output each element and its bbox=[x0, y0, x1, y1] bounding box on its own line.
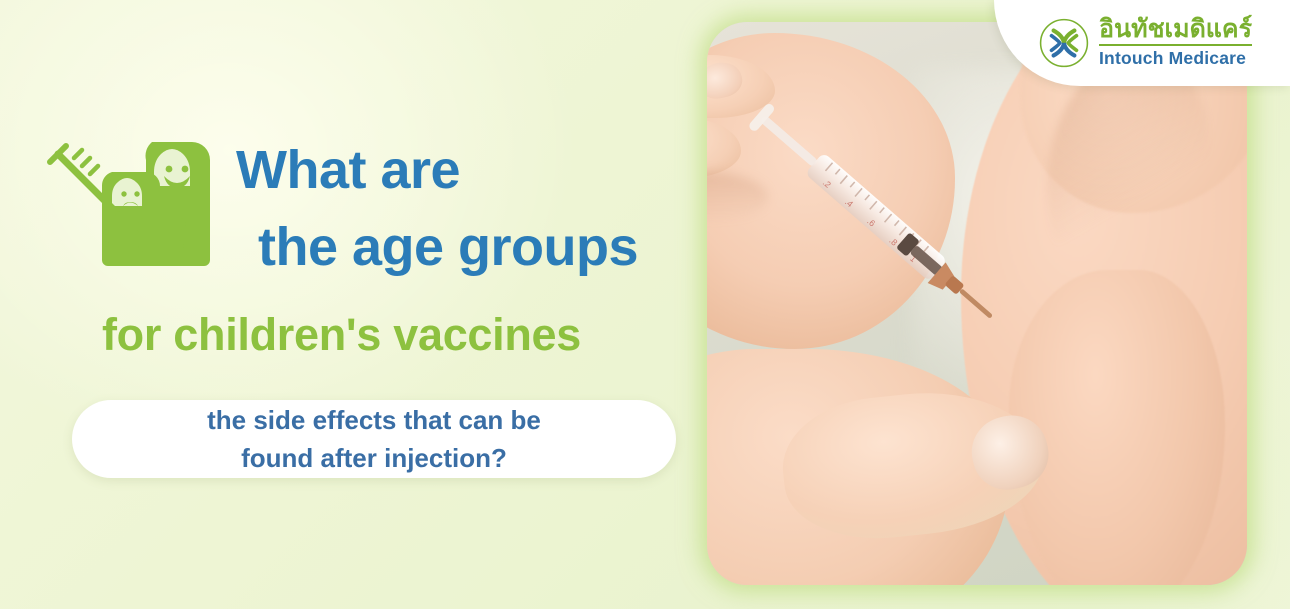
middle-finger bbox=[707, 118, 741, 178]
headline-line-1: What are bbox=[236, 132, 676, 209]
question-pill-text: the side effects that can be found after… bbox=[207, 401, 541, 478]
baby-arm bbox=[1009, 270, 1225, 585]
question-pill-line-2: found after injection? bbox=[207, 439, 541, 477]
logo-thai-name: อินทัชเมดิแคร์ bbox=[1099, 16, 1252, 46]
brand-logo-banner: อินทัชเมดิแคร์ Intouch Medicare bbox=[994, 0, 1290, 86]
question-pill: the side effects that can be found after… bbox=[72, 400, 676, 478]
knuckle-shadow bbox=[707, 172, 768, 222]
logo-wordmark: อินทัชเมดิแคร์ Intouch Medicare bbox=[1099, 16, 1252, 70]
vaccine-info-banner: What are the age groups for children's v… bbox=[0, 0, 1290, 609]
question-pill-line-1: the side effects that can be bbox=[207, 401, 541, 439]
intouch-medicare-logo-mark-icon bbox=[1038, 17, 1090, 69]
baby-vaccination-photo: .2 .4 .6 .8 1 bbox=[707, 22, 1247, 585]
logo-english-name: Intouch Medicare bbox=[1099, 48, 1252, 70]
mother-child-vaccination-icon bbox=[44, 132, 220, 282]
headline-line-2: the age groups bbox=[258, 209, 676, 286]
photo-inner: .2 .4 .6 .8 1 bbox=[707, 22, 1247, 585]
left-content-column: What are the age groups for children's v… bbox=[0, 0, 700, 609]
subheadline: for children's vaccines bbox=[102, 308, 682, 361]
headline: What are the age groups bbox=[236, 132, 676, 285]
